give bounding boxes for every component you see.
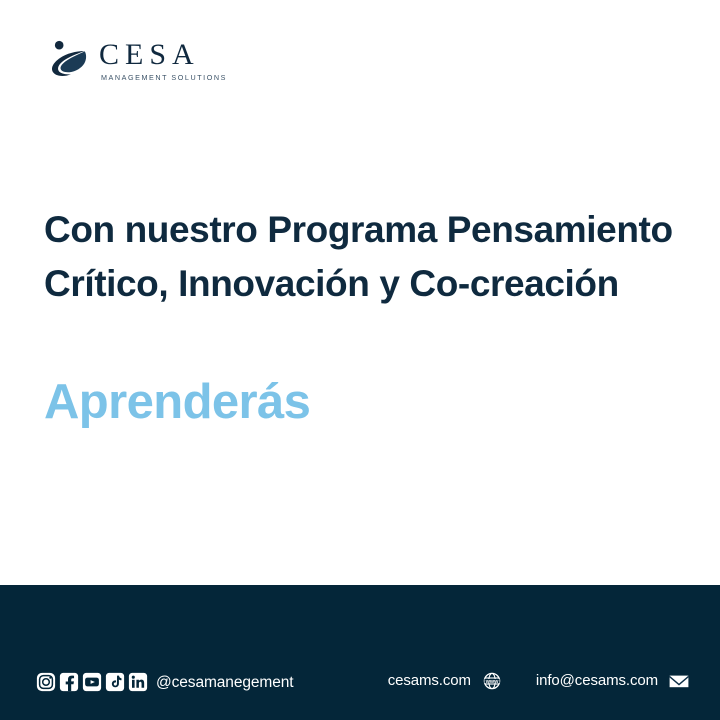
- footer-social-group: @cesamanegement: [36, 672, 293, 692]
- website-contact[interactable]: cesams.com www: [388, 671, 503, 691]
- linkedin-icon[interactable]: [128, 672, 148, 692]
- cesa-swoosh-icon: [44, 38, 90, 84]
- youtube-icon[interactable]: [82, 672, 102, 692]
- email-text[interactable]: info@cesams.com: [536, 671, 658, 691]
- envelope-icon: [668, 671, 690, 691]
- page-title: Con nuestro Programa Pensamiento Crítico…: [44, 203, 674, 311]
- tiktok-icon[interactable]: [105, 672, 125, 692]
- logo-name: CESA: [99, 40, 227, 70]
- website-text[interactable]: cesams.com: [388, 671, 471, 691]
- social-handle[interactable]: @cesamanegement: [156, 673, 293, 693]
- email-contact[interactable]: info@cesams.com: [536, 671, 690, 691]
- logo-tagline: MANAGEMENT SOLUTIONS: [101, 74, 227, 81]
- www-globe-icon: www: [481, 671, 503, 691]
- poster-canvas: CESA MANAGEMENT SOLUTIONS Con nuestro Pr…: [0, 0, 720, 720]
- social-icons: [36, 672, 148, 692]
- headline-highlight: Aprenderás: [44, 378, 310, 427]
- footer-contact-group: cesams.com www info@cesams.com: [388, 671, 690, 691]
- svg-text:www: www: [485, 679, 499, 685]
- instagram-icon[interactable]: [36, 672, 56, 692]
- logo-wordmark: CESA MANAGEMENT SOLUTIONS: [99, 40, 227, 81]
- footer-bar: [0, 585, 720, 720]
- facebook-icon[interactable]: [59, 672, 79, 692]
- brand-logo: CESA MANAGEMENT SOLUTIONS: [44, 38, 227, 84]
